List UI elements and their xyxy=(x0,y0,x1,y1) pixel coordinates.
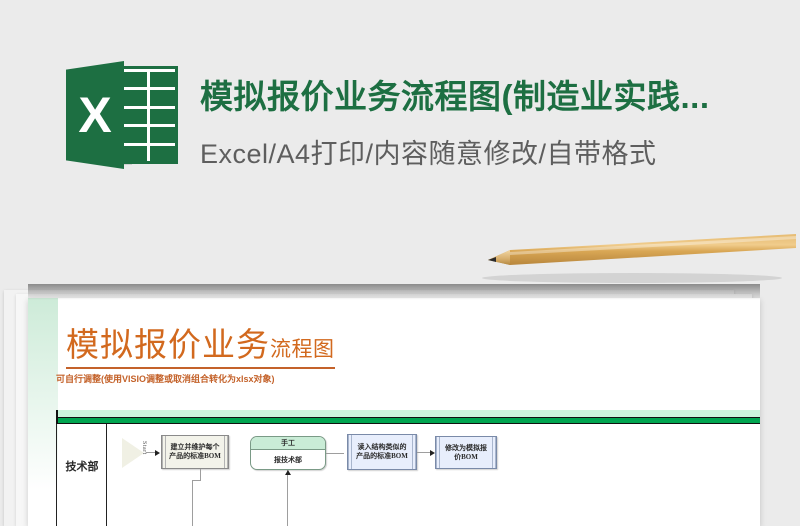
document-title: 模拟报价业务流程图 xyxy=(66,318,335,369)
connector-into-n2 xyxy=(287,470,288,526)
document-note: 可自行调整(使用VISIO调整或取消组合转化为xlsx对象) xyxy=(56,372,275,385)
page-title: 模拟报价业务流程图(制造业实践... xyxy=(200,70,800,118)
accent-bar-left-cap xyxy=(56,410,58,424)
flow-start-node[interactable]: Start xyxy=(122,438,146,468)
swimlane-label-technology-dept: 技术部 xyxy=(60,458,104,474)
accent-separator-bar xyxy=(56,410,760,424)
flow-node-n1-label: 建立并维护每个产品的标准BOM xyxy=(169,436,221,468)
connector-n1-down-a xyxy=(200,469,201,480)
flow-node-n4-label: 修改为模拟报价BOM xyxy=(443,437,489,468)
swimlane-divider-left xyxy=(56,424,57,526)
node-sidebar-right xyxy=(492,437,496,468)
start-label: Start xyxy=(123,441,147,455)
document-title-secondary: 流程图 xyxy=(270,337,335,361)
arrowhead-to-n1 xyxy=(155,450,160,456)
arrowhead-into-n2 xyxy=(285,470,291,475)
page-subtitle: Excel/A4打印/内容随意修改/自带格式 xyxy=(200,132,800,171)
node-sidebar-right xyxy=(412,435,416,469)
flow-node-n4[interactable]: 修改为模拟报价BOM xyxy=(435,436,497,469)
document-preview-stack[interactable]: 模拟报价业务流程图 可自行调整(使用VISIO调整或取消组合转化为xlsx对象)… xyxy=(0,284,800,526)
excel-icon-grid-cells xyxy=(121,72,175,161)
paper-sheet-front[interactable]: 模拟报价业务流程图 可自行调整(使用VISIO调整或取消组合转化为xlsx对象)… xyxy=(28,298,760,526)
flow-node-n2-label: 报技术部 xyxy=(251,450,325,470)
connector-n1-down-b xyxy=(192,480,201,481)
connector-n1-down-c xyxy=(192,480,193,526)
swimlane-divider-right xyxy=(106,424,107,526)
node-sidebar-right xyxy=(224,436,228,468)
document-title-primary: 模拟报价业务 xyxy=(66,328,270,364)
connector-n3-to-n4 xyxy=(417,452,431,453)
node-sidebar-left xyxy=(436,437,440,468)
sheet-left-gradient-column xyxy=(28,298,58,526)
flow-node-n3[interactable]: 读入结构类似的产品的标准BOM xyxy=(347,434,417,470)
flow-node-n1[interactable]: 建立并维护每个产品的标准BOM xyxy=(161,435,229,469)
flow-node-n2-header: 手工 xyxy=(251,437,325,450)
flow-node-n3-label: 读入结构类似的产品的标准BOM xyxy=(355,435,409,469)
flow-node-n2[interactable]: 手工 报技术部 xyxy=(250,436,326,470)
excel-icon-grid xyxy=(115,66,178,164)
header-band: X 模拟报价业务流程图(制造业实践... Excel/A4打印/内容随意修改/自… xyxy=(0,0,800,262)
accent-bar-dark xyxy=(56,417,760,424)
excel-icon-letter: X xyxy=(66,61,124,169)
node-sidebar-left xyxy=(348,435,352,469)
paper-top-shadow xyxy=(28,284,760,300)
node-sidebar-left xyxy=(162,436,166,468)
connector-n2-to-n3 xyxy=(326,453,344,454)
excel-file-icon: X xyxy=(66,61,178,169)
